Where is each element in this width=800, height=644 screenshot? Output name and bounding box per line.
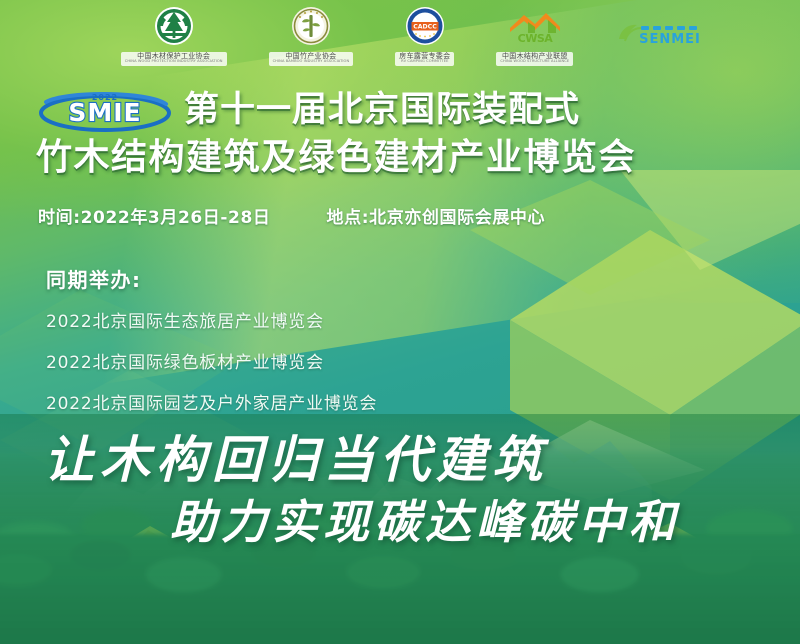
logo-china-wooden-structure-housing-industry-alliance: CWSA 中国木结构产业联盟 CHINA WOOD STRUCTURE ALLI… (496, 6, 573, 66)
cadcc-acronym: CADCC (413, 24, 437, 31)
smie-acronym: SMIE (68, 98, 141, 127)
concurrent-item: 2022北京国际园艺及户外家居产业博览会 (46, 389, 377, 414)
event-meta: 时间:2022年3月26日-28日 地点:北京亦创国际会展中心 (38, 203, 545, 228)
logo-cadcc-rv-camping-committee: CADCC 房车露营专委会 RV CAMPING COMMITTEE (395, 6, 454, 66)
cwsa-acronym: CWSA (517, 32, 553, 45)
logo-senmei: SENMEI (615, 17, 719, 55)
headline-line-1: 第十一届北京国际装配式 (184, 91, 580, 130)
senmei-leaf-icon: SENMEI (615, 17, 719, 55)
senmei-acronym: SENMEI (639, 32, 701, 47)
logo-label: 中国竹产业协会 CHINA BAMBOO INDUSTRY ASSOCIATIO… (269, 52, 354, 66)
event-venue: 地点:北京亦创国际会展中心 (327, 203, 546, 228)
pine-tree-circle-icon (154, 6, 194, 50)
logo-label: 中国木结构产业联盟 CHINA WOOD STRUCTURE ALLIANCE (496, 52, 573, 66)
concurrent-item: 2022北京国际生态旅居产业博览会 (46, 307, 377, 332)
headline-block: SMIE 2022 第十一届北京国际装配式 竹木结构建筑及绿色建材产业博览会 (36, 88, 780, 178)
concurrent-title: 同期举办: (46, 264, 377, 293)
exhibition-poster: 中国木材保护工业协会 CHINA WOOD PROTECTION INDUSTR… (0, 0, 800, 644)
logo-label: 房车露营专委会 RV CAMPING COMMITTEE (395, 52, 454, 66)
cadcc-circle-icon: CADCC (405, 6, 445, 50)
cwsa-house-icon: CWSA (504, 6, 566, 50)
bamboo-circle-icon (291, 6, 331, 50)
slogan-line-2: 助力实现碳达峰碳中和 (170, 486, 680, 552)
headline-line-2: 竹木结构建筑及绿色建材产业博览会 (36, 138, 780, 178)
logo-china-bamboo-industry-association: 中国竹产业协会 CHINA BAMBOO INDUSTRY ASSOCIATIO… (269, 6, 354, 66)
logo-label: 中国木材保护工业协会 CHINA WOOD PROTECTION INDUSTR… (121, 52, 227, 66)
organizer-logo-strip: 中国木材保护工业协会 CHINA WOOD PROTECTION INDUSTR… (0, 0, 800, 72)
logo-china-wood-protection-industry-association: 中国木材保护工业协会 CHINA WOOD PROTECTION INDUSTR… (121, 6, 227, 66)
smie-logo: SMIE 2022 (36, 88, 174, 134)
smie-year: 2022 (92, 93, 118, 102)
concurrent-events: 同期举办: 2022北京国际生态旅居产业博览会 2022北京国际绿色板材产业博览… (46, 264, 377, 430)
event-date: 时间:2022年3月26日-28日 (38, 203, 271, 228)
slogan-line-1: 让木构回归当代建筑 (44, 420, 548, 492)
concurrent-item: 2022北京国际绿色板材产业博览会 (46, 348, 377, 373)
